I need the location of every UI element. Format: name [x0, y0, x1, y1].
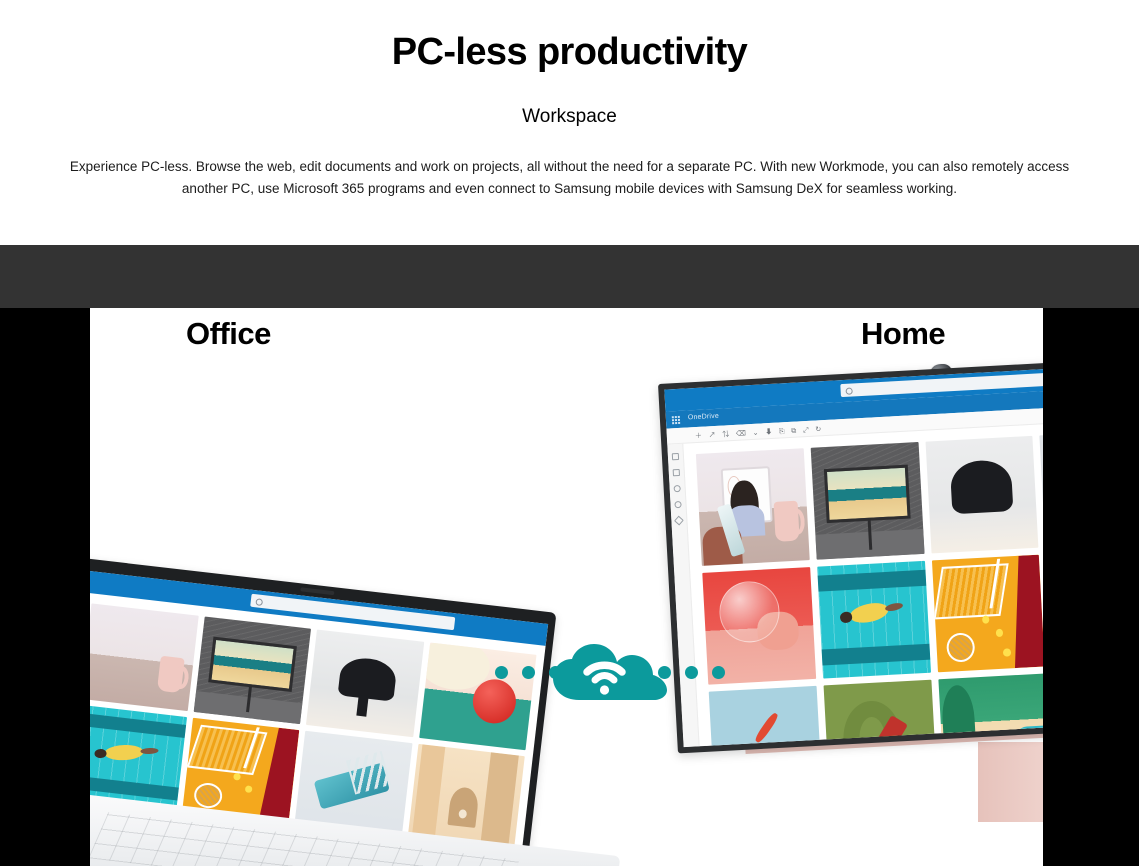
sidebar-icon-bin[interactable]: [674, 516, 684, 526]
photo-tile[interactable]: [193, 616, 311, 724]
photo-grid: [690, 423, 1043, 746]
office-laptop: SAMSUNG: [90, 556, 670, 866]
connection-dot: [712, 666, 725, 679]
connection-dot: [685, 666, 698, 679]
toolbar-icons[interactable]: ＋ ↗ ⇅ ⌫ ⌄ ⬇ ⎘ ⧉ ⤢ ↻: [695, 424, 824, 441]
cloud-connection-graphic: [495, 644, 725, 704]
cloud-wifi-icon: [551, 644, 669, 702]
monitor-stand-column: [978, 742, 1043, 822]
laptop-webcam-icon: [300, 587, 334, 595]
letterbox-right: [1043, 308, 1139, 866]
photo-tile[interactable]: [90, 603, 198, 711]
scene-canvas: Office Home: [90, 308, 1043, 866]
connection-dot: [658, 666, 671, 679]
photo-tile[interactable]: [306, 629, 424, 737]
connection-dots-right: [658, 666, 725, 679]
home-monitor: OneDrive ＋ ↗ ⇅ ⌫ ⌄ ⬇ ⎘ ⧉ ⤢ ↻: [658, 384, 1043, 814]
photo-tile[interactable]: [931, 555, 1043, 673]
hero-media-stage: Office Home: [0, 308, 1139, 866]
photo-tile[interactable]: [823, 680, 937, 747]
photo-tile[interactable]: [810, 442, 924, 560]
app-name: OneDrive: [688, 412, 720, 421]
waffle-menu-icon[interactable]: [672, 416, 680, 424]
photo-tile[interactable]: [709, 686, 823, 747]
office-label: Office: [186, 316, 271, 352]
photo-tile[interactable]: [1040, 430, 1043, 548]
intro-text-section: PC-less productivity Workspace Experienc…: [0, 0, 1139, 245]
connection-dot: [495, 666, 508, 679]
page-title: PC-less productivity: [0, 25, 1139, 79]
page-root: PC-less productivity Workspace Experienc…: [0, 0, 1139, 866]
page-subtitle: Workspace: [0, 102, 1139, 132]
connection-dot: [522, 666, 535, 679]
dark-divider-band: [0, 245, 1139, 308]
photo-tile[interactable]: [925, 436, 1039, 554]
photo-tile[interactable]: [817, 561, 931, 679]
photo-tile[interactable]: [696, 448, 810, 566]
page-description: Experience PC-less. Browse the web, edit…: [70, 156, 1070, 200]
sidebar-icon-recent[interactable]: [673, 469, 680, 476]
sidebar-icon-files[interactable]: [672, 453, 679, 460]
sidebar-icon-photos[interactable]: [674, 501, 681, 508]
letterbox-left: [0, 308, 90, 866]
home-label: Home: [861, 316, 945, 352]
sidebar-icon-shared[interactable]: [674, 485, 681, 492]
